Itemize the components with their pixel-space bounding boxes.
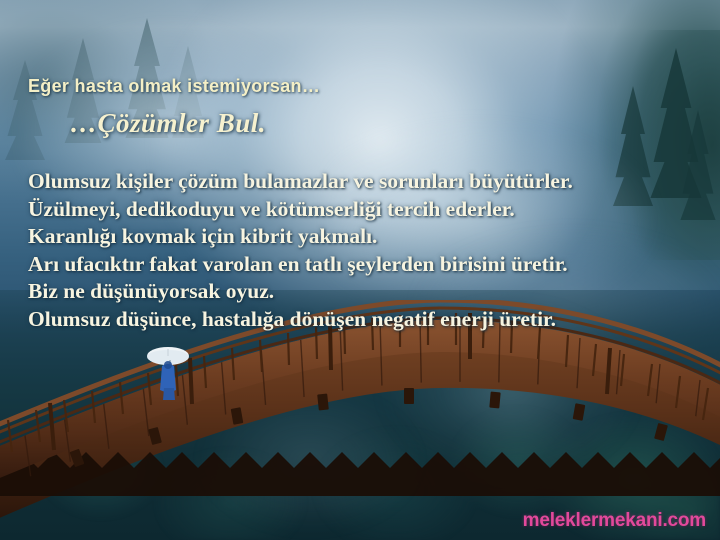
body-line: Karanlığı kovmak için kibrit yakmalı. bbox=[28, 223, 698, 251]
body-line: Arı ufacıktır fakat varolan en tatlı şey… bbox=[28, 251, 698, 279]
headline-text: Eğer hasta olmak istemiyorsan… bbox=[28, 76, 320, 97]
body-line: Olumsuz kişiler çözüm bulamazlar ve soru… bbox=[28, 168, 698, 196]
slide-canvas: Eğer hasta olmak istemiyorsan… …Çözümler… bbox=[0, 0, 720, 540]
body-text-block: Olumsuz kişiler çözüm bulamazlar ve soru… bbox=[28, 168, 698, 333]
body-line: Olumsuz düşünce, hastalığa dönüşen negat… bbox=[28, 306, 698, 334]
site-watermark: meleklermekani.com bbox=[523, 510, 706, 532]
body-line: Üzülmeyi, dedikoduyu ve kötümserliği ter… bbox=[28, 196, 698, 224]
body-line: Biz ne düşünüyorsak oyuz. bbox=[28, 278, 698, 306]
text-overlay: Eğer hasta olmak istemiyorsan… …Çözümler… bbox=[0, 0, 720, 540]
subheadline-text: …Çözümler Bul. bbox=[70, 108, 266, 139]
